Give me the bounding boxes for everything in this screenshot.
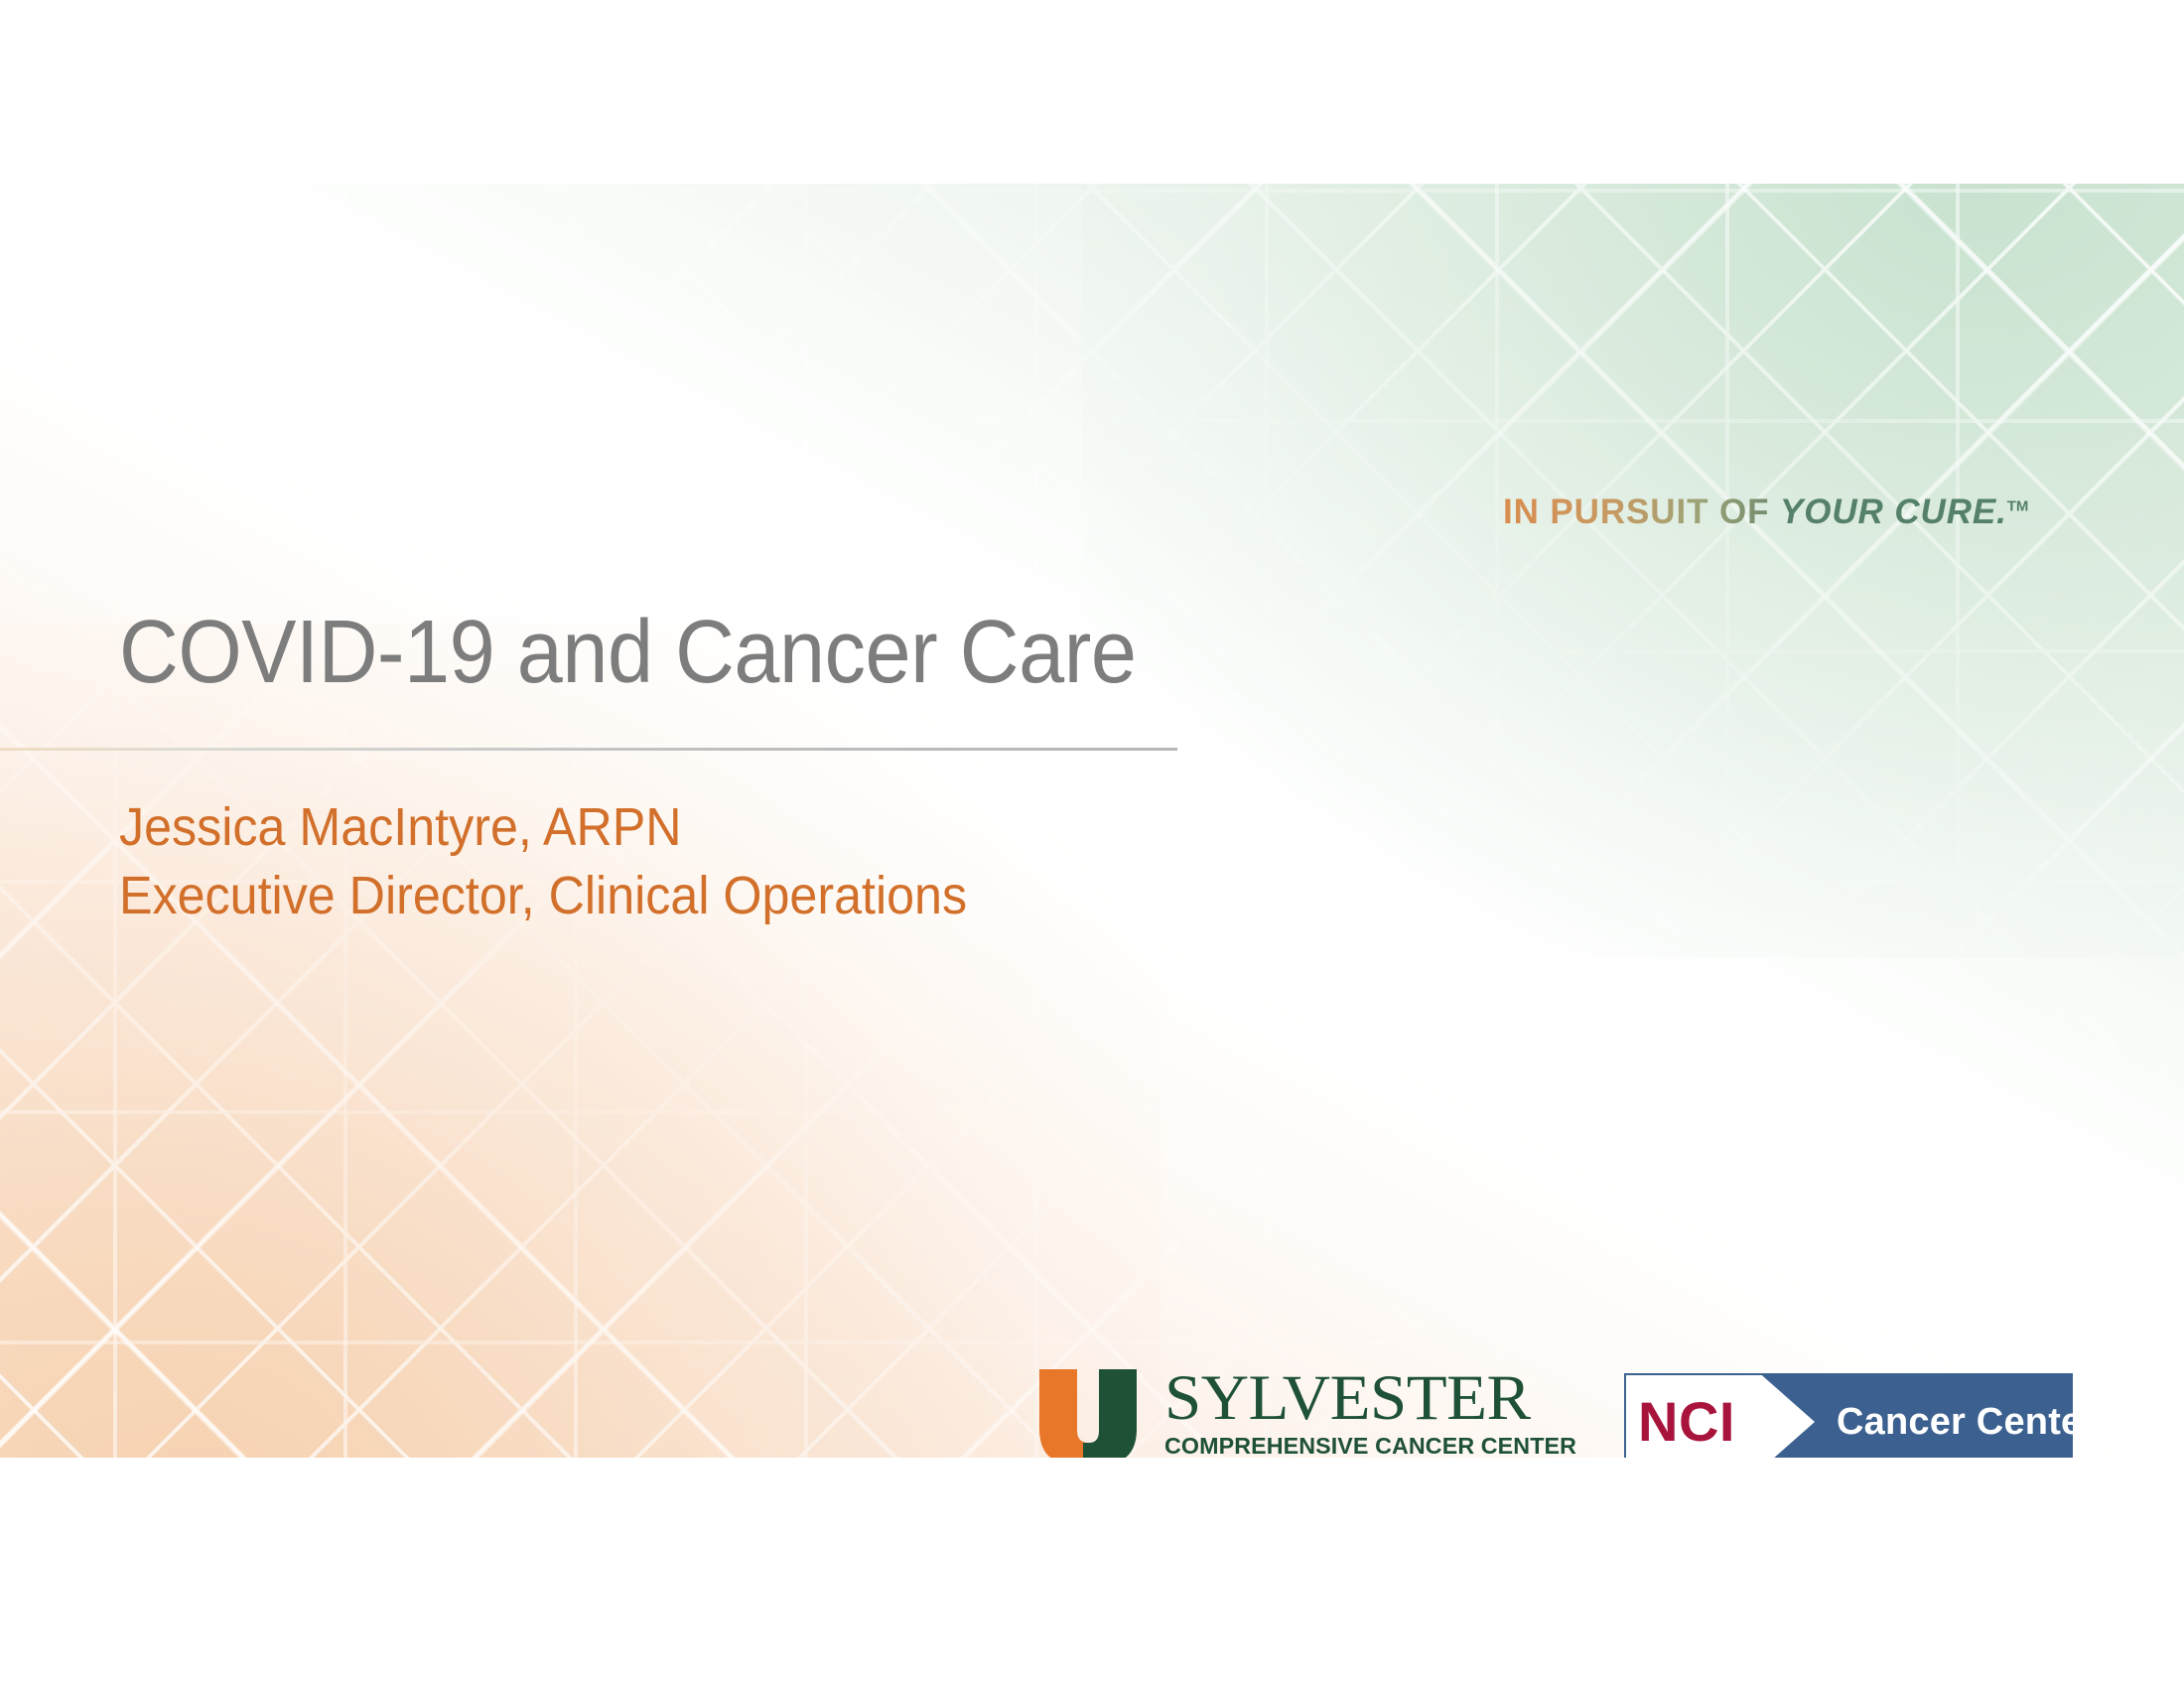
nci-acronym: NCI xyxy=(1638,1394,1735,1450)
nci-cancer-center-label: Cancer Center xyxy=(1837,1403,2097,1441)
title-slide: IN PURSUIT OF YOUR CURE.TM COVID-19 and … xyxy=(0,184,2184,1458)
sylvester-wordmark: SYLVESTER COMPREHENSIVE CANCER CENTER xyxy=(1164,1367,1504,1458)
tagline-italic-text: YOUR CURE. xyxy=(1780,492,2007,531)
sylvester-logo: SYLVESTER COMPREHENSIVE CANCER CENTER UN… xyxy=(1037,1367,1504,1458)
tagline-regular-text: IN PURSUIT OF xyxy=(1503,492,1780,531)
presenter-title: Executive Director, Clinical Operations xyxy=(119,862,967,930)
page-title: COVID-19 and Cancer Care xyxy=(119,606,1136,700)
presenter-name: Jessica MacIntyre, ARPN xyxy=(119,793,967,862)
sylvester-logo-top: SYLVESTER COMPREHENSIVE CANCER CENTER xyxy=(1037,1367,1504,1458)
sylvester-name: SYLVESTER xyxy=(1164,1367,1514,1429)
presenter-block: Jessica MacIntyre, ARPN Executive Direct… xyxy=(119,793,967,930)
trademark-symbol: TM xyxy=(2007,497,2029,514)
title-divider-rule xyxy=(0,748,1177,751)
nci-badge: NCI Cancer Center xyxy=(1624,1373,2073,1458)
brand-tagline: IN PURSUIT OF YOUR CURE.TM xyxy=(1503,494,2028,529)
nci-logo: NCI Cancer Center A Cancer Center Design… xyxy=(1624,1373,2073,1458)
um-u-mark-icon xyxy=(1037,1369,1153,1458)
sylvester-descriptor: COMPREHENSIVE CANCER CENTER xyxy=(1164,1433,1501,1458)
